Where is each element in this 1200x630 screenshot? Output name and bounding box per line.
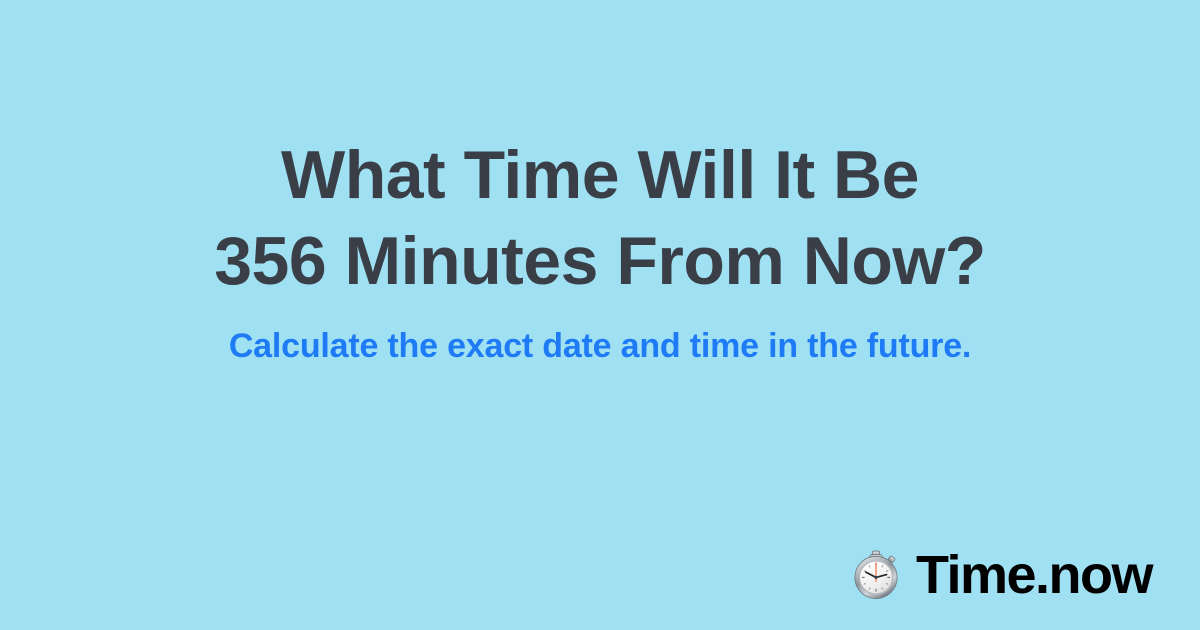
brand-logo: Time.now [850,548,1152,602]
share-card: What Time Will It Be 356 Minutes From No… [0,0,1200,630]
page-subtitle: Calculate the exact date and time in the… [0,326,1200,366]
stopwatch-icon [850,549,902,601]
headline-line-1: What Time Will It Be [0,132,1200,218]
subtitle-container: Calculate the exact date and time in the… [0,326,1200,366]
page-title: What Time Will It Be 356 Minutes From No… [0,132,1200,304]
headline-line-2: 356 Minutes From Now? [0,218,1200,304]
brand-name: Time.now [916,548,1152,602]
